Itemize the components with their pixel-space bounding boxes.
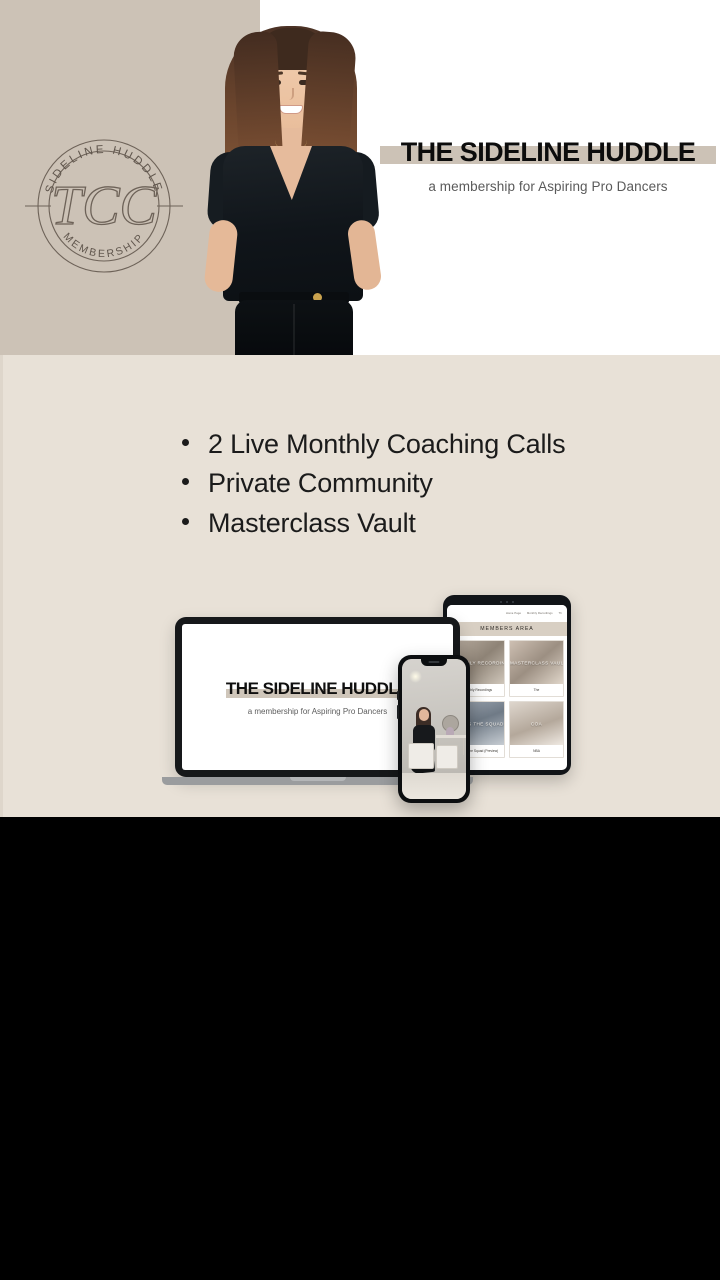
phone-volume-button[interactable]: [397, 691, 399, 700]
phone-screen: [402, 659, 466, 799]
logo-monogram: TCC: [51, 175, 157, 237]
members-area-banner: MEMBERS AREA: [447, 622, 567, 636]
benefits-section: 2 Live Monthly Coaching Calls Private Co…: [0, 355, 720, 817]
device-mockup-group: Home Page Monthly Recordings Th MEMBERS …: [140, 585, 585, 800]
tablet-nav-item[interactable]: Monthly Recordings: [527, 612, 553, 615]
phone-mockup: [398, 655, 470, 803]
bullet-icon: [182, 518, 189, 525]
list-item: 2 Live Monthly Coaching Calls: [178, 425, 648, 464]
sideline-huddle-stamp-logo: SIDELINE HUDDLE MEMBERSHIP TCC: [25, 118, 183, 283]
tablet-nav-item[interactable]: Home Page: [506, 612, 521, 615]
page-title: THE SIDELINE HUDDLE: [380, 138, 716, 166]
phone-speaker-icon: [429, 661, 440, 663]
tablet-card[interactable]: MASTERCLASS VAULT The: [509, 640, 564, 697]
benefit-label: Masterclass Vault: [208, 508, 416, 538]
hero-section: SIDELINE HUDDLE MEMBERSHIP TCC: [0, 0, 720, 355]
bullet-icon: [182, 478, 189, 485]
card-thumbnail: MASTERCLASS VAULT: [510, 641, 563, 684]
benefit-label: Private Community: [208, 468, 433, 498]
page-subtitle: a membership for Aspiring Pro Dancers: [380, 179, 716, 194]
footer-black-area: [0, 817, 720, 1280]
tablet-nav-item[interactable]: Th: [559, 612, 562, 615]
tablet-card[interactable]: COA NBA: [509, 701, 564, 758]
list-item: Masterclass Vault: [178, 504, 648, 543]
card-caption: The: [510, 684, 563, 696]
model-photo: [185, 20, 400, 355]
card-thumbnail: COA: [510, 702, 563, 745]
benefit-label: 2 Live Monthly Coaching Calls: [208, 429, 565, 459]
card-caption: NBA: [510, 745, 563, 757]
hero-title-block: THE SIDELINE HUDDLE a membership for Asp…: [380, 138, 716, 194]
bullet-icon: [182, 439, 189, 446]
phone-power-button[interactable]: [397, 705, 399, 719]
promo-page: SIDELINE HUDDLE MEMBERSHIP TCC: [0, 0, 720, 1280]
benefits-list: 2 Live Monthly Coaching Calls Private Co…: [178, 425, 648, 543]
card-overlay-title: MASTERCLASS VAULT: [510, 660, 563, 665]
laptop-notch: [290, 777, 346, 781]
tablet-camera-icon: [496, 600, 518, 603]
laptop-subtitle: a membership for Aspiring Pro Dancers: [248, 707, 388, 716]
card-overlay-title: COA: [510, 721, 563, 726]
laptop-title: THE SIDELINE HUDDLE: [226, 679, 409, 699]
list-item: Private Community: [178, 464, 648, 503]
tablet-nav: Home Page Monthly Recordings Th: [447, 605, 567, 622]
left-edge-strip: [0, 355, 3, 817]
members-area-label: MEMBERS AREA: [480, 626, 534, 632]
